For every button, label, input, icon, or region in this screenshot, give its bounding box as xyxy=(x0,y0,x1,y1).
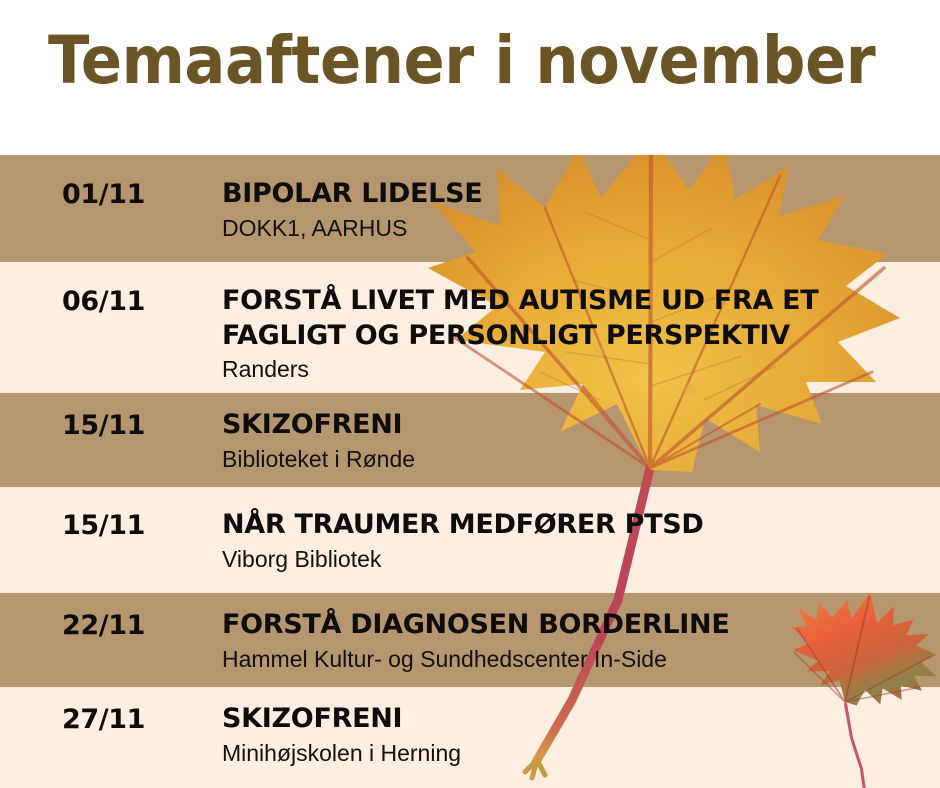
event-title: FORSTÅ DIAGNOSEN BORDERLINE xyxy=(222,608,922,643)
event-body: FORSTÅ LIVET MED AUTISME UD FRA ET FAGLI… xyxy=(222,284,922,385)
list-item[interactable]: 01/11 BIPOLAR LIDELSE DOKK1, AARHUS xyxy=(0,155,940,262)
event-venue: DOKK1, AARHUS xyxy=(222,214,922,244)
list-item[interactable]: 22/11 FORSTÅ DIAGNOSEN BORDERLINE Hammel… xyxy=(0,593,940,687)
event-date: 15/11 xyxy=(62,510,145,541)
event-date: 06/11 xyxy=(62,286,145,317)
event-title: FORSTÅ LIVET MED AUTISME UD FRA ET FAGLI… xyxy=(222,284,922,353)
event-title: SKIZOFRENI xyxy=(222,702,922,737)
poster-header: Temaaftener i november xyxy=(0,0,940,155)
list-item[interactable]: 06/11 FORSTÅ LIVET MED AUTISME UD FRA ET… xyxy=(0,262,940,393)
list-item[interactable]: 15/11 NÅR TRAUMER MEDFØRER PTSD Viborg B… xyxy=(0,487,940,593)
poster-canvas: Temaaftener i november 01/11 BIPOLAR LID… xyxy=(0,0,940,788)
event-date: 27/11 xyxy=(62,704,145,735)
event-title: NÅR TRAUMER MEDFØRER PTSD xyxy=(222,508,922,543)
event-venue: Minihøjskolen i Herning xyxy=(222,739,922,769)
event-body: FORSTÅ DIAGNOSEN BORDERLINE Hammel Kultu… xyxy=(222,608,922,674)
event-body: BIPOLAR LIDELSE DOKK1, AARHUS xyxy=(222,177,922,243)
list-item[interactable]: 15/11 SKIZOFRENI Biblioteket i Rønde xyxy=(0,393,940,487)
event-date: 22/11 xyxy=(62,610,145,641)
event-body: NÅR TRAUMER MEDFØRER PTSD Viborg Bibliot… xyxy=(222,508,922,574)
event-date: 15/11 xyxy=(62,410,145,441)
list-item[interactable]: 27/11 SKIZOFRENI Minihøjskolen i Herning xyxy=(0,687,940,788)
event-venue: Randers xyxy=(222,355,922,385)
event-date: 01/11 xyxy=(62,179,145,210)
event-venue: Viborg Bibliotek xyxy=(222,545,922,575)
event-venue: Biblioteket i Rønde xyxy=(222,445,922,475)
event-body: SKIZOFRENI Minihøjskolen i Herning xyxy=(222,702,922,768)
event-title: SKIZOFRENI xyxy=(222,408,922,443)
page-title: Temaaftener i november xyxy=(48,28,875,94)
event-body: SKIZOFRENI Biblioteket i Rønde xyxy=(222,408,922,474)
event-title: BIPOLAR LIDELSE xyxy=(222,177,922,212)
event-venue: Hammel Kultur- og Sundhedscenter In-Side xyxy=(222,645,922,675)
